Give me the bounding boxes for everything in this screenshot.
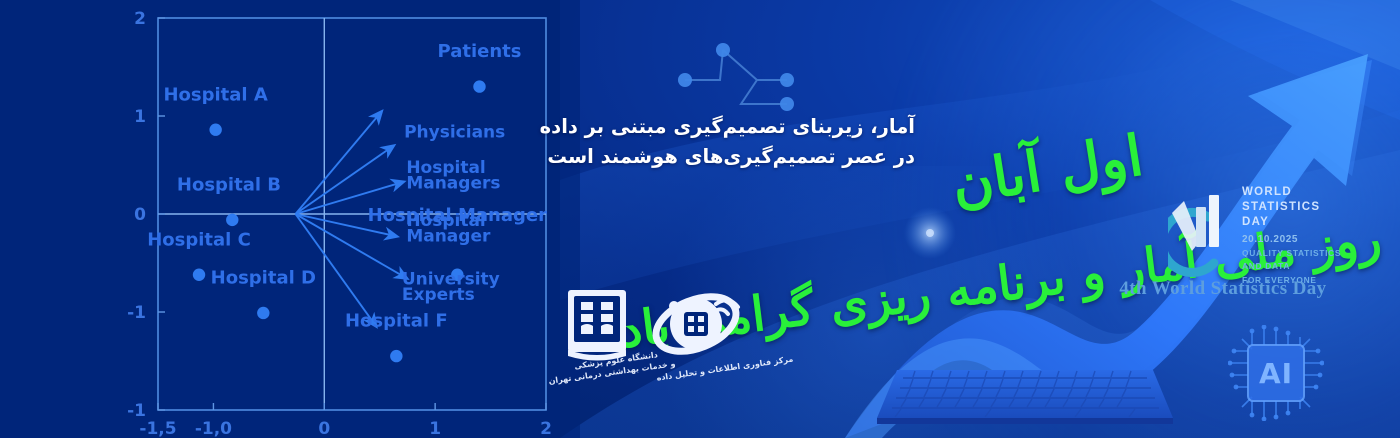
wsd-title-line-3: DAY [1242,215,1341,230]
svg-text:-1: -1 [127,303,146,323]
svg-text:-1,0: -1,0 [195,419,232,438]
ai-chip-label: AI [1228,325,1324,421]
svg-text:Experts: Experts [402,285,475,305]
wsd-serif-caption: 4th World Statistics Day [1108,278,1338,300]
svg-text:Hospital A: Hospital A [163,84,267,105]
svg-text:Physicians: Physicians [404,123,505,143]
svg-text:Hospital F: Hospital F [345,311,448,332]
chart-canvas: -1,5-1,0012210-1-1 Hospital AHospital BH… [0,0,572,438]
svg-text:0: 0 [134,205,146,225]
svg-text:Hospital D: Hospital D [211,268,316,289]
svg-text:Managers: Managers [406,174,500,194]
svg-text:0: 0 [318,419,330,438]
statistics-day-banner: -1,5-1,0012210-1-1 Hospital AHospital BH… [0,0,1400,438]
headline-line-1: آمار، زیربنای تصمیم‌گیری مبتنی بر داده [545,112,915,142]
svg-text:Manager: Manager [406,226,491,246]
data-center-emblem-icon [648,286,744,362]
svg-text:1: 1 [429,419,441,438]
svg-text:-1,5: -1,5 [139,419,176,438]
svg-text:1: 1 [134,107,146,127]
wsd-title-line-1: WORLD [1242,185,1341,200]
svg-text:Patients: Patients [437,41,521,62]
ai-chip-icon: AI [1228,325,1324,421]
headline-persian: آمار، زیربنای تصمیم‌گیری مبتنی بر داده د… [545,112,915,172]
wsd-tagline-line-1: QUALITY STATISTICS [1242,248,1341,259]
wsd-date: 20.10.2025 [1242,234,1341,245]
svg-text:-1: -1 [127,401,146,421]
organisation-logos: دانشگاه علوم پزشکی و خدمات بهداشتی درمان… [556,284,756,394]
wsd-mark-icon [1168,179,1232,283]
svg-text:2: 2 [134,9,146,29]
svg-text:2: 2 [540,419,552,438]
svg-text:Hospital C: Hospital C [147,229,251,250]
university-emblem-icon [568,290,626,361]
wsd-text-block: WORLD STATISTICS DAY 20.10.2025 QUALITY … [1242,185,1341,286]
world-statistics-day-logo: WORLD STATISTICS DAY 20.10.2025 QUALITY … [1180,175,1380,295]
scatter-biplot-chart: -1,5-1,0012210-1-1 Hospital AHospital BH… [0,0,572,438]
wsd-title-line-2: STATISTICS [1242,200,1341,215]
keyboard-illustration [845,358,1205,438]
headline-line-2: در عصر تصمیم‌گیری‌های هوشمند است [545,142,915,172]
wsd-tagline-line-2: AND DATA [1242,261,1341,272]
svg-text:Hospital B: Hospital B [177,174,281,195]
